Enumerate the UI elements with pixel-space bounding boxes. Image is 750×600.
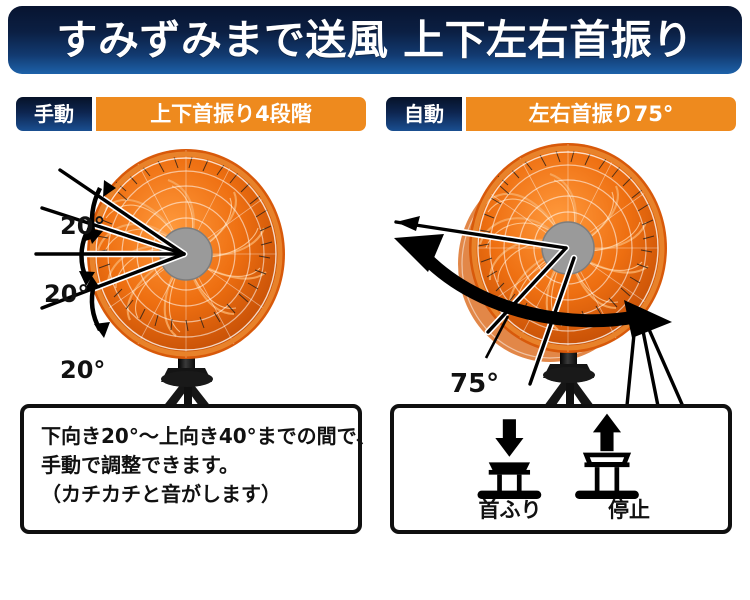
illustration-vertical: 20° 20° 20° — [8, 136, 374, 436]
sweep-angle-label: 75° — [450, 371, 499, 397]
mode-badge-auto: 自動 — [386, 97, 462, 131]
feature-badge-horizontal-label: 左右首振り75° — [529, 104, 674, 125]
feature-badge-vertical-label: 上下首振り4段階 — [150, 104, 312, 125]
angle-label-middle: 20° — [44, 282, 89, 306]
header-banner: すみずみまで送風 上下左右首振り — [8, 6, 742, 74]
label-bar-horizontal: 自動 左右首振り75° — [386, 97, 736, 131]
mode-badge-manual-label: 手動 — [34, 104, 74, 124]
knob-stop-label: 停止 — [569, 500, 689, 521]
fan-horizontal-diagram — [378, 136, 744, 436]
angle-label-bottom: 20° — [60, 358, 105, 382]
panel-vertical-oscillation: 手動 上下首振り4段階 — [8, 92, 374, 592]
mode-badge-auto-label: 自動 — [404, 104, 444, 124]
mode-badge-manual: 手動 — [16, 97, 92, 131]
note-line-1: 下向き20°〜上向き40°までの間で、 — [41, 422, 358, 451]
page-title: すみずみまで送風 上下左右首振り — [56, 20, 693, 61]
angle-label-top: 20° — [60, 214, 105, 238]
callout-vertical-note: 下向き20°〜上向き40°までの間で、 手動で調整できます。 （カチカチと音がし… — [20, 404, 362, 534]
callout-knob-controls: 首ふり 停止 — [390, 404, 732, 534]
arrow-up-icon — [593, 414, 621, 452]
feature-badge-horizontal: 左右首振り75° — [466, 97, 736, 131]
note-line-2: 手動で調整できます。 — [41, 451, 358, 480]
label-bar-vertical: 手動 上下首振り4段階 — [16, 97, 366, 131]
knob-stop — [575, 414, 639, 499]
arrow-down-icon — [495, 419, 523, 457]
knob-oscillate — [477, 419, 541, 499]
illustration-horizontal: 75° — [378, 136, 744, 436]
note-line-3: （カチカチと音がします） — [41, 480, 358, 509]
panel-horizontal-oscillation: 自動 左右首振り75° — [378, 92, 744, 592]
feature-badge-vertical: 上下首振り4段階 — [96, 97, 366, 131]
knob-oscillate-label: 首ふり — [450, 500, 570, 521]
